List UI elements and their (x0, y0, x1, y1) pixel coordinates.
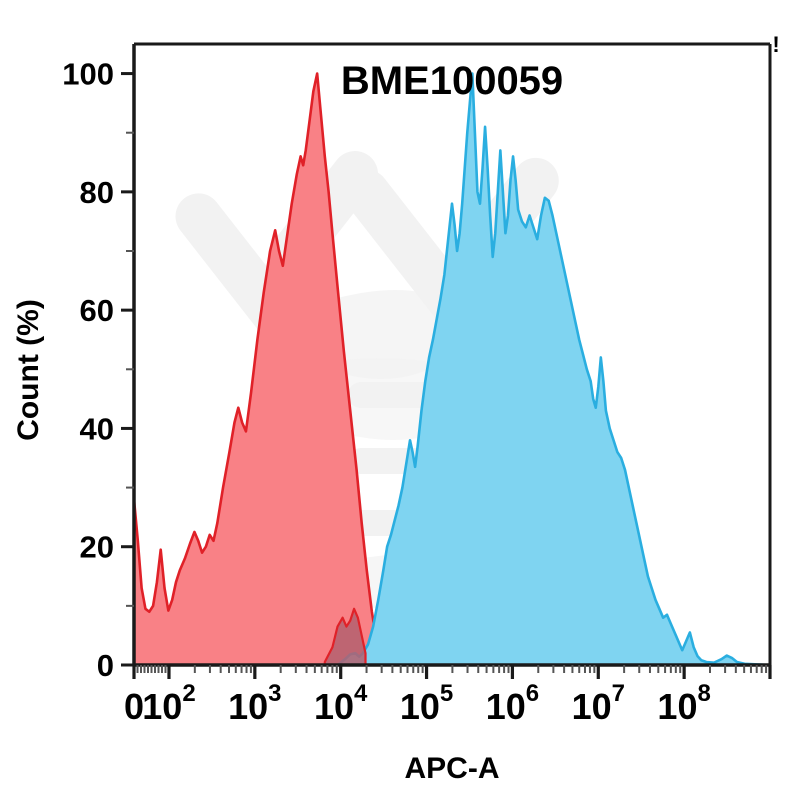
x-tick-label: 108 (657, 680, 710, 727)
x-tick-exponent: 8 (697, 680, 710, 707)
chart-title: BME100059 (341, 59, 563, 103)
x-tick-label: 106 (486, 680, 539, 727)
y-tick-label: 40 (80, 411, 114, 446)
x-tick-label: 102 (142, 680, 195, 727)
x-tick-exponent: 2 (182, 680, 195, 707)
y-tick-label: 0 (97, 648, 114, 683)
x-axis-ticks (134, 665, 770, 679)
flow-cytometry-figure: 020406080100 0102103104105106107108 BME1… (0, 0, 795, 800)
y-axis-ticks (121, 74, 134, 665)
x-axis-tick-labels: 0102103104105106107108 (124, 680, 711, 727)
x-tick-exponent: 7 (612, 680, 625, 707)
y-tick-label: 20 (80, 530, 114, 565)
x-tick-exponent: 4 (354, 680, 368, 707)
x-tick-label: 105 (400, 680, 453, 727)
x-tick-exponent: 6 (526, 680, 539, 707)
x-axis-title: APC-A (405, 752, 500, 785)
x-tick-label: 104 (314, 680, 368, 727)
x-tick-label: 0 (124, 686, 144, 727)
y-tick-label: 60 (80, 293, 114, 328)
x-tick-label: 107 (572, 680, 625, 727)
y-axis-tick-labels: 020406080100 (62, 57, 114, 683)
y-axis-title: Count (%) (12, 299, 45, 441)
corner-mark-icon: ! (772, 32, 779, 57)
x-tick-label: 103 (228, 680, 281, 727)
histogram-plot: 020406080100 0102103104105106107108 BME1… (0, 0, 795, 800)
y-tick-label: 100 (62, 57, 114, 92)
x-tick-exponent: 5 (440, 680, 453, 707)
x-tick-exponent: 3 (268, 680, 281, 707)
y-tick-label: 80 (80, 175, 114, 210)
